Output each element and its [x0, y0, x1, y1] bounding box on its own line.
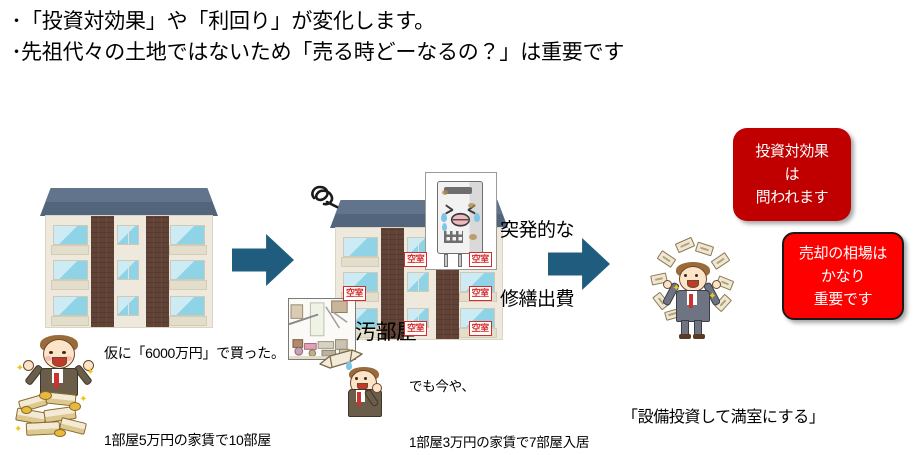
leg	[681, 320, 689, 335]
gold-coin	[54, 429, 66, 437]
hand	[372, 383, 382, 393]
balcony	[169, 245, 207, 255]
tear-drop	[442, 223, 447, 231]
hand	[663, 280, 672, 289]
sparkle-icon: ✦	[86, 368, 94, 378]
bullet-list: ・ 「投資対効果」や「利回り」が変化します。 ・ 先祖代々の土地ではないため「売…	[8, 6, 768, 68]
banknote	[710, 252, 730, 270]
sparkle-icon: ✦	[79, 395, 87, 405]
gold-coin	[21, 406, 32, 414]
vacancy-sign: 空室	[343, 286, 366, 301]
tear-drop	[474, 213, 480, 222]
heater-pipe	[444, 254, 448, 267]
heater-pipe	[458, 254, 462, 267]
hand	[23, 360, 34, 371]
eye	[49, 351, 53, 354]
sale-price-callout-line: 重要です	[799, 288, 887, 311]
leg	[694, 320, 702, 335]
mouth	[687, 280, 699, 288]
bullet-marker: ・	[8, 6, 21, 37]
building-roof	[40, 188, 218, 216]
window	[53, 260, 88, 280]
roi-callout-line: 投資対効果	[755, 140, 829, 163]
exit-options-list: 「設備投資して満室にする」 「なにも手をかけず、家賃を下げる」 「建て直す」 「…	[622, 358, 886, 455]
necktie	[689, 294, 693, 308]
sparkle-icon: ✦	[708, 292, 716, 302]
sale-price-callout-line: かなり	[799, 265, 887, 288]
window	[407, 272, 428, 292]
balcony	[51, 245, 89, 255]
bullet-item: ・ 先祖代々の土地ではないため「売る時どーなるの？」は重要です	[8, 37, 768, 68]
happy-man-on-gold: ✦ ✦ ✦ ✦	[14, 333, 102, 437]
left-caption-block: 1部屋5万円の家賃で10部屋 毎月50万円!! 年間600万円。 表面利回り10…	[104, 393, 271, 455]
window	[53, 225, 88, 245]
vacancy-sign: 空室	[404, 252, 427, 267]
heater-grill	[444, 231, 463, 242]
vacancy-sign: 空室	[469, 286, 492, 301]
sparkle-icon: ✦	[14, 425, 22, 435]
window	[117, 296, 138, 316]
slide-canvas: ・ 「投資対効果」や「利回り」が変化します。 ・ 先祖代々の土地ではないため「売…	[0, 0, 916, 455]
tear-drop	[441, 213, 447, 222]
necktie	[357, 392, 361, 406]
arrow-left-to-middle	[232, 234, 294, 286]
window	[343, 237, 378, 257]
water-heater-icon	[437, 181, 483, 254]
necktie	[54, 373, 59, 388]
roi-callout: 投資対効果 は 問われます	[733, 128, 851, 221]
worried-man	[336, 360, 394, 432]
exit-option: 「設備投資して満室にする」	[622, 406, 886, 430]
sparkle-icon: ✦	[672, 284, 680, 294]
sale-price-callout-line: 売却の相場は	[799, 242, 887, 265]
banknote	[695, 242, 714, 257]
head	[679, 266, 707, 292]
window	[170, 296, 205, 316]
left-caption-headline: 仮に「6000万円」で買った。	[104, 344, 285, 363]
banknote	[674, 237, 695, 253]
vacancy-sign: 空室	[404, 321, 427, 336]
shoe	[679, 334, 691, 339]
window	[170, 260, 205, 280]
repair-cost-line: 修繕出費	[500, 289, 574, 310]
balcony	[51, 316, 89, 326]
left-caption-line: 1部屋5万円の家賃で10部屋	[104, 431, 271, 450]
scribble-icon	[308, 182, 342, 210]
heater-vent	[444, 187, 471, 193]
window	[117, 260, 138, 280]
man-throwing-money: ✦ ✦	[648, 240, 734, 340]
balcony	[341, 257, 379, 267]
repair-cost-line: 突発的な	[500, 220, 574, 241]
building-wall	[45, 215, 212, 328]
roi-callout-line: は	[755, 163, 829, 186]
brick-column	[146, 216, 169, 327]
brick-column	[91, 216, 114, 327]
shoe	[693, 334, 705, 339]
vacancy-sign: 空室	[469, 252, 492, 267]
roi-callout-line: 問われます	[755, 186, 829, 209]
sparkle-icon: ✦	[16, 364, 24, 374]
middle-caption-line: 1部屋3万円の家賃で7部屋入居	[409, 434, 589, 453]
balcony	[51, 280, 89, 290]
bullet-item: ・ 「投資対効果」や「利回り」が変化します。	[8, 6, 768, 37]
bullet-text: 先祖代々の土地ではないため「売る時どーなるの？」は重要です	[21, 37, 624, 68]
rust-stain	[469, 234, 477, 240]
cheek-blush	[45, 356, 52, 361]
banknote	[657, 250, 677, 268]
bullet-text: 「投資対効果」や「利回り」が変化します。	[21, 6, 435, 37]
balcony	[169, 316, 207, 326]
window	[117, 225, 138, 245]
rust-stain	[442, 190, 448, 195]
sale-price-callout: 売却の相場は かなり 重要です	[782, 232, 904, 320]
middle-caption-block: でも今や、 1部屋3万円の家賃で7部屋入居 毎月21万円!! 年間252万円。 …	[409, 341, 589, 455]
balcony	[169, 280, 207, 290]
hand	[712, 280, 721, 289]
bullet-marker: ・	[8, 37, 21, 68]
window	[53, 296, 88, 316]
window	[170, 225, 205, 245]
vacancy-sign: 空室	[469, 321, 492, 336]
mouth	[52, 357, 67, 367]
middle-caption-line: でも今や、	[409, 378, 589, 397]
gold-coin	[39, 391, 52, 400]
apartment-building-good	[40, 188, 218, 328]
